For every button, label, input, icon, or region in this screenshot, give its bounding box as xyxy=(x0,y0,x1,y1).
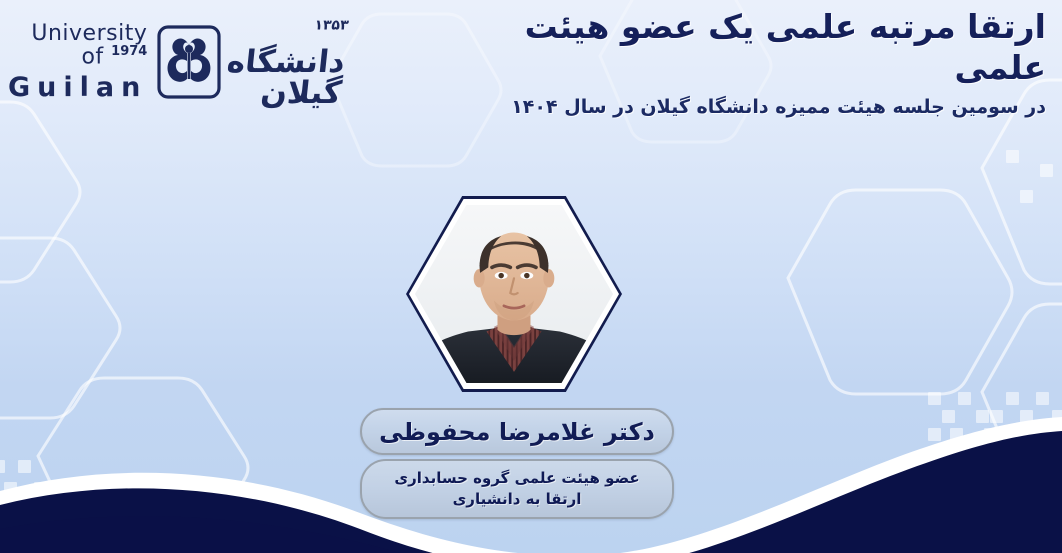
announcement-poster: University of 1974 Guilan ۱۳۵۳ دانشگاه گ… xyxy=(0,0,1062,553)
logo-english-line1: University of 1974 xyxy=(8,23,147,68)
guilan-emblem-icon xyxy=(157,24,221,100)
page-subtitle: در سومین جلسه هیئت ممیزه دانشگاه گیلان د… xyxy=(426,95,1046,120)
logo-english-text: University of 1974 Guilan xyxy=(8,23,147,101)
logo-persian-year: ۱۳۵۳ xyxy=(314,17,350,33)
university-logo: University of 1974 Guilan ۱۳۵۳ دانشگاه گ… xyxy=(8,14,328,110)
logo-persian-name: دانشگاه گیلان xyxy=(225,44,346,111)
poster-header: University of 1974 Guilan ۱۳۵۳ دانشگاه گ… xyxy=(0,0,1062,118)
square-grid-far-right-top xyxy=(1000,150,1062,220)
page-title: ارتقا مرتبه علمی یک عضو هیئت علمی xyxy=(426,6,1046,89)
logo-persian-text: ۱۳۵۳ دانشگاه گیلان xyxy=(222,16,349,109)
bottom-wave-decoration xyxy=(0,363,1062,553)
title-block: ارتقا مرتبه علمی یک عضو هیئت علمی در سوم… xyxy=(426,6,1046,119)
logo-english-line2: Guilan xyxy=(8,74,147,101)
logo-gregorian-year: 1974 xyxy=(111,44,147,59)
